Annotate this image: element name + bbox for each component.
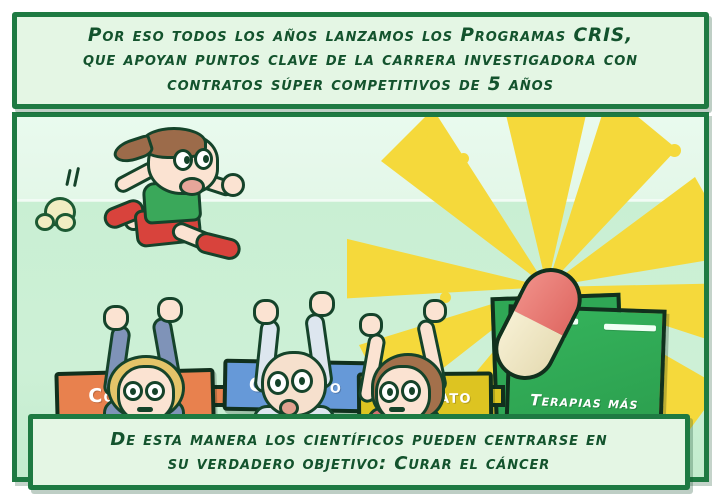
holder-right-hand-1: [359, 313, 383, 337]
runner-pupil-left: [184, 156, 190, 164]
top-caption-box: Por eso todos los años lanzamos los Prog…: [12, 12, 709, 109]
top-caption-line-3: contratos súper competitivos de 5 años: [167, 73, 554, 97]
tape-right: [604, 324, 656, 332]
holder-left-hand-1: [103, 305, 129, 331]
dust-puff: [35, 213, 55, 231]
comic-panel-root: Por eso todos los años lanzamos los Prog…: [0, 0, 720, 495]
bottom-caption-line-1: De esta manera los científicos pueden ce…: [110, 428, 607, 452]
top-caption-line-1: Por eso todos los años lanzamos los Prog…: [88, 24, 633, 48]
holder-mid-hand-1: [253, 299, 279, 325]
holder-right-pupil-2: [409, 387, 415, 395]
runner-eye-left: [173, 149, 193, 171]
holder-mid-pupil-1: [275, 379, 281, 387]
holder-left-pupil-1: [130, 388, 136, 395]
holder-left-pupil-2: [152, 388, 158, 395]
runner-pupil-right: [203, 155, 209, 163]
holder-mid-pupil-2: [299, 377, 305, 385]
holder-right-mouth: [389, 407, 405, 412]
sun-dot: [415, 127, 428, 140]
holder-left-mouth: [137, 407, 153, 412]
holder-right-hand-2: [423, 299, 447, 323]
top-caption-line-2: que apoyan puntos clave de la carrera in…: [83, 48, 638, 72]
sun-dot: [668, 144, 681, 157]
runner-character: [95, 125, 255, 275]
runner-mouth: [179, 177, 205, 196]
sun-dot: [458, 153, 469, 164]
dust-puff: [55, 213, 76, 232]
runner-shoe-front: [193, 230, 243, 262]
holder-left-hand-2: [157, 297, 183, 323]
bottom-caption-line-2: su verdadero objetivo: Curar el cáncer: [168, 452, 550, 476]
bottom-caption-box: De esta manera los científicos pueden ce…: [28, 414, 690, 490]
holder-mid-hand-2: [309, 291, 335, 317]
runner-fist: [221, 173, 245, 197]
holder-right-pupil-1: [387, 388, 393, 396]
